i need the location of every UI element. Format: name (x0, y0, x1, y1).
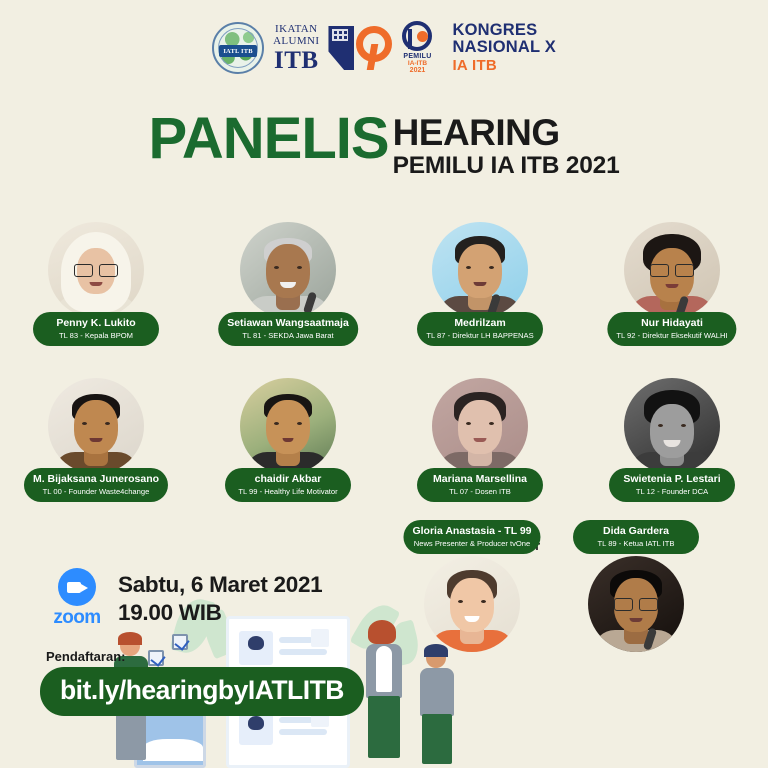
avatar (624, 222, 720, 318)
pemilu-p-glyph-icon (402, 21, 432, 51)
board-text-line (279, 637, 313, 643)
panelist-role: TL 81 - SEKDA Jawa Barat (227, 331, 349, 340)
board-avatar-bottom (239, 711, 273, 745)
event-datetime: Sabtu, 6 Maret 2021 19.00 WIB (118, 572, 322, 626)
panelist-name-badge: M. Bijaksana Junerosano TL 00 - Founder … (24, 468, 168, 502)
avatar (240, 378, 336, 474)
avatar (432, 378, 528, 474)
person-legs (422, 714, 452, 764)
panelist-card: Medrilzam TL 87 - Direktur LH BAPPENAS (384, 222, 576, 352)
sambutan-name: Dida Gardera (582, 525, 690, 537)
panelist-card: Nur Hidayati TL 92 - Direktur Eksekutif … (576, 222, 768, 352)
title-pemilu-subtitle: PEMILU IA ITB 2021 (393, 153, 620, 180)
avatar (424, 556, 520, 652)
person-legs (368, 696, 400, 758)
panelist-card: chaidir Akbar TL 99 - Healthy Life Motiv… (192, 378, 384, 508)
title-panelis: PANELIS (148, 112, 388, 165)
avatar (588, 556, 684, 652)
panelist-name: Nur Hidayati (616, 317, 727, 329)
ikatan-line-3: ITB (274, 48, 319, 73)
panelist-role: TL 07 - Dosen ITB (426, 487, 534, 496)
board-avatar-top (239, 631, 273, 665)
person-figure-right (412, 640, 464, 768)
zoom-video-camera-icon (58, 568, 96, 606)
ia-monogram-dot-pattern (332, 29, 348, 41)
title-hearing: HEARING (393, 114, 620, 151)
panelist-name: Medrilzam (426, 317, 534, 329)
panelist-card: M. Bijaksana Junerosano TL 00 - Founder … (0, 378, 192, 508)
ikatan-line-2: ALUMNI (273, 36, 319, 47)
ia-monogram-a-shape (350, 26, 384, 70)
ikatan-line-1: IKATAN (275, 24, 317, 35)
panelist-name-badge: Swietenia P. Lestari TL 12 - Founder DCA (609, 468, 735, 502)
panelist-card: Setiawan Wangsaatmaja TL 81 - SEKDA Jawa… (192, 222, 384, 352)
registration-url-link[interactable]: bit.ly/hearingbyIATLITB (40, 667, 364, 716)
avatar (432, 222, 528, 318)
panelist-name: M. Bijaksana Junerosano (33, 473, 159, 485)
zoom-wordmark: zoom (46, 607, 108, 629)
panelist-role: TL 99 - Healthy Life Motivator (234, 487, 342, 496)
person-figure-center (356, 620, 412, 768)
panelist-name: Setiawan Wangsaatmaja (227, 317, 349, 329)
board-text-line (279, 729, 327, 735)
event-time: 19.00 WIB (118, 600, 322, 626)
panelist-name: Swietenia P. Lestari (618, 473, 726, 485)
panelist-card: Mariana Marsellina TL 07 - Dosen ITB (384, 378, 576, 508)
pemilu-year-label: 2021 (410, 67, 426, 74)
kongres-line-2: NASIONAL X (452, 39, 555, 57)
person-hair (368, 620, 396, 644)
sambutan-name-badge: Dida Gardera TL 89 - Ketua IATL ITB (573, 520, 699, 554)
panelist-role: TL 87 - Direktur LH BAPPENAS (426, 331, 534, 340)
panelist-grid-row-1: Penny K. Lukito TL 83 - Kepala BPOM Seti… (0, 222, 768, 352)
checkbox-checked-icon (172, 634, 188, 650)
zoom-logo: zoom (46, 568, 108, 629)
board-text-line (279, 717, 313, 723)
panelist-name-badge: Mariana Marsellina TL 07 - Dosen ITB (417, 468, 543, 502)
avatar (48, 378, 144, 474)
avatar (624, 378, 720, 474)
board-square (311, 629, 329, 647)
pemilu-org-label: IA-ITB (408, 61, 427, 68)
panelist-role: TL 83 - Kepala BPOM (42, 331, 150, 340)
page-title: PANELIS HEARING PEMILU IA ITB 2021 (0, 112, 768, 180)
iatl-itb-seal-icon: IATL ITB (212, 22, 264, 74)
kongres-nasional-wordmark: KONGRES NASIONAL X IA ITB (452, 22, 555, 75)
ia-monogram-icon (328, 24, 384, 72)
panelist-name-badge: Setiawan Wangsaatmaja TL 81 - SEKDA Jawa… (218, 312, 358, 346)
iatl-seal-text: IATL ITB (223, 48, 252, 55)
registration-label: Pendaftaran: (46, 649, 125, 664)
panelist-card: Penny K. Lukito TL 83 - Kepala BPOM (0, 222, 192, 352)
moderator-name: Gloria Anastasia - TL 99 (412, 525, 531, 537)
panelist-name-badge: Penny K. Lukito TL 83 - Kepala BPOM (33, 312, 159, 346)
panelist-name: chaidir Akbar (234, 473, 342, 485)
panelist-role: TL 92 - Direktur Eksekutif WALHI (616, 331, 727, 340)
pemilu-ia-itb-logo: PEMILU IA-ITB 2021 (393, 21, 441, 75)
panelist-name: Mariana Marsellina (426, 473, 534, 485)
panelist-name: Penny K. Lukito (42, 317, 150, 329)
sambutan-title: TL 89 - Ketua IATL ITB (582, 539, 690, 548)
iatl-seal-band: IATL ITB (219, 45, 257, 57)
avatar (240, 222, 336, 318)
person-body (420, 668, 454, 716)
board-text-line (279, 649, 327, 655)
panelist-name-badge: chaidir Akbar TL 99 - Healthy Life Motiv… (225, 468, 351, 502)
person-shirt (376, 646, 392, 692)
panelist-card: Swietenia P. Lestari TL 12 - Founder DCA (576, 378, 768, 508)
moderator-name-badge: Gloria Anastasia - TL 99 News Presenter … (403, 520, 540, 554)
panelist-role: TL 00 - Founder Waste4change (33, 487, 159, 496)
ikatan-alumni-itb-wordmark: IKATAN ALUMNI ITB (273, 24, 319, 73)
kongres-line-3: IA ITB (452, 58, 555, 74)
panelist-name-badge: Nur Hidayati TL 92 - Direktur Eksekutif … (607, 312, 736, 346)
event-date: Sabtu, 6 Maret 2021 (118, 572, 322, 598)
header-logo-strip: IATL ITB IKATAN ALUMNI ITB PEMILU IA-ITB… (0, 12, 768, 84)
avatar (48, 222, 144, 318)
kongres-line-1: KONGRES (452, 22, 555, 40)
person-hair (118, 632, 142, 645)
panelist-name-badge: Medrilzam TL 87 - Direktur LH BAPPENAS (417, 312, 543, 346)
moderator-title: News Presenter & Producer tvOne (412, 539, 531, 548)
panelist-grid-row-2: M. Bijaksana Junerosano TL 00 - Founder … (0, 378, 768, 508)
panelist-role: TL 12 - Founder DCA (618, 487, 726, 496)
